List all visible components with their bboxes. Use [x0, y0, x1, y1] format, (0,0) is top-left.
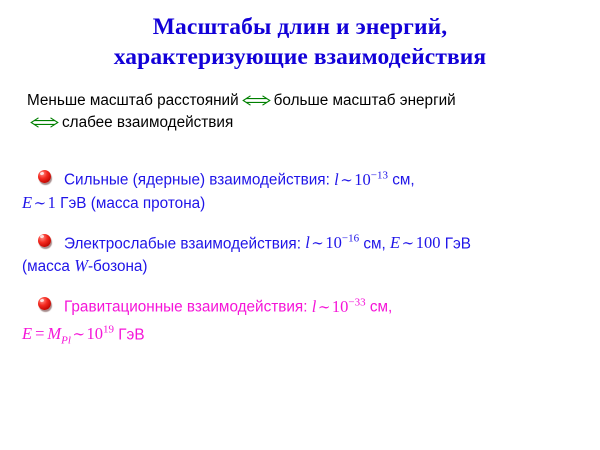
list-item: Сильные (ядерные) взаимодействия: l∼10−1… — [0, 164, 600, 215]
title-line-2: характеризующие взаимодействия — [0, 42, 600, 72]
bullet-1-label: Сильные (ядерные) взаимодействия: — [64, 172, 330, 189]
bullet-2-formula-1: l∼10−16 — [305, 233, 359, 252]
bullet-2-text: Электрослабые взаимодействия: l∼10−16 см… — [58, 228, 600, 279]
bullet-2-formula-2: E∼100 — [390, 233, 440, 252]
formula-base: 10 — [354, 170, 371, 189]
formula-exponent: −13 — [371, 169, 388, 181]
formula-value: 100 — [416, 233, 441, 252]
formula-equals: = — [32, 324, 47, 343]
title-line-1: Масштабы длин и энергий, — [0, 12, 600, 42]
bullet-3-line-2: E=MPl∼1019 ГэВ — [22, 319, 600, 352]
bullet-3-unit-1: см, — [370, 299, 392, 316]
formula-base: 10 — [332, 297, 349, 316]
lead-part-1: Меньше масштаб расстояний — [27, 92, 239, 109]
formula-value: 1 — [48, 193, 56, 212]
bullet-3-formula-1: l∼10−33 — [312, 297, 366, 316]
bullet-3-label: Гравитационные взаимодействия: — [64, 299, 307, 316]
bullet-1-unit-2: ГэВ — [60, 195, 86, 212]
formula-rel-2: ∼ — [32, 194, 48, 212]
bullet-3-unit-2: ГэВ — [118, 326, 144, 343]
slide-canvas: Масштабы длин и энергий, характеризующие… — [0, 0, 600, 450]
formula-exponent: −16 — [342, 233, 359, 245]
page-title: Масштабы длин и энергий, характеризующие… — [0, 12, 600, 72]
formula-var-l: l — [334, 170, 339, 189]
formula-rel: ∼ — [316, 298, 332, 316]
bullet-list: Сильные (ядерные) взаимодействия: l∼10−1… — [0, 164, 600, 364]
formula-base-2: 10 — [87, 324, 104, 343]
formula-var-M: M — [47, 324, 61, 343]
bullet-2-label: Электрослабые взаимодействия: — [64, 235, 301, 252]
formula-exponent-2: 19 — [103, 324, 114, 336]
red-sphere-bullet-icon — [38, 297, 51, 310]
bullet-3-formula-2: E=MPl∼1019 — [22, 324, 114, 343]
bullet-3-text: Гравитационные взаимодействия: l∼10−33 с… — [58, 291, 600, 351]
formula-exponent: −33 — [348, 296, 365, 308]
left-right-double-arrow-icon — [242, 95, 271, 106]
formula-var-E: E — [22, 193, 32, 212]
bullet-2-unit-1: см, — [363, 235, 385, 252]
bullet-2-note-open: (масса — [22, 258, 70, 275]
formula-var-W: W — [74, 256, 88, 275]
lead-part-3: слабее взаимодействия — [62, 114, 233, 131]
formula-rel: ∼ — [339, 171, 355, 189]
bullet-1-line-2: E∼1 ГэВ (масса протона) — [22, 192, 600, 215]
formula-rel: ∼ — [310, 234, 326, 252]
formula-rel-2: ∼ — [71, 325, 87, 343]
formula-rel-2: ∼ — [400, 234, 416, 252]
bullet-2-unit-2: ГэВ — [445, 235, 471, 252]
bullet-1-formula-1: l∼10−13 — [334, 170, 388, 189]
bullet-1-formula-2: E∼1 — [22, 193, 56, 212]
bullet-3-line-1: Гравитационные взаимодействия: l∼10−33 с… — [58, 291, 600, 319]
formula-base: 10 — [325, 233, 342, 252]
bullet-1-text: Сильные (ядерные) взаимодействия: l∼10−1… — [58, 164, 600, 215]
list-item: Гравитационные взаимодействия: l∼10−33 с… — [0, 291, 600, 351]
left-right-double-arrow-icon-2 — [30, 117, 59, 128]
formula-var-E: E — [390, 233, 400, 252]
formula-subscript-Pl: Pl — [61, 334, 71, 346]
formula-var-E: E — [22, 324, 32, 343]
bullet-2-line-1: Электрослабые взаимодействия: l∼10−16 см… — [58, 228, 600, 256]
lead-part-2: больше масштаб энергий — [274, 92, 456, 109]
bullet-1-line-1: Сильные (ядерные) взаимодействия: l∼10−1… — [58, 164, 600, 192]
bullet-2-note-close: -бозона) — [88, 258, 148, 275]
red-sphere-bullet-icon — [38, 234, 51, 247]
bullet-1-note: (масса протона) — [91, 195, 206, 212]
bullet-1-unit-1: см, — [392, 172, 414, 189]
list-item: Электрослабые взаимодействия: l∼10−16 см… — [0, 228, 600, 279]
red-sphere-bullet-icon — [38, 170, 51, 183]
lead-paragraph: Меньше масштаб расстоянийбольше масштаб … — [27, 90, 575, 134]
bullet-2-line-2: (масса W-бозона) — [22, 255, 600, 278]
